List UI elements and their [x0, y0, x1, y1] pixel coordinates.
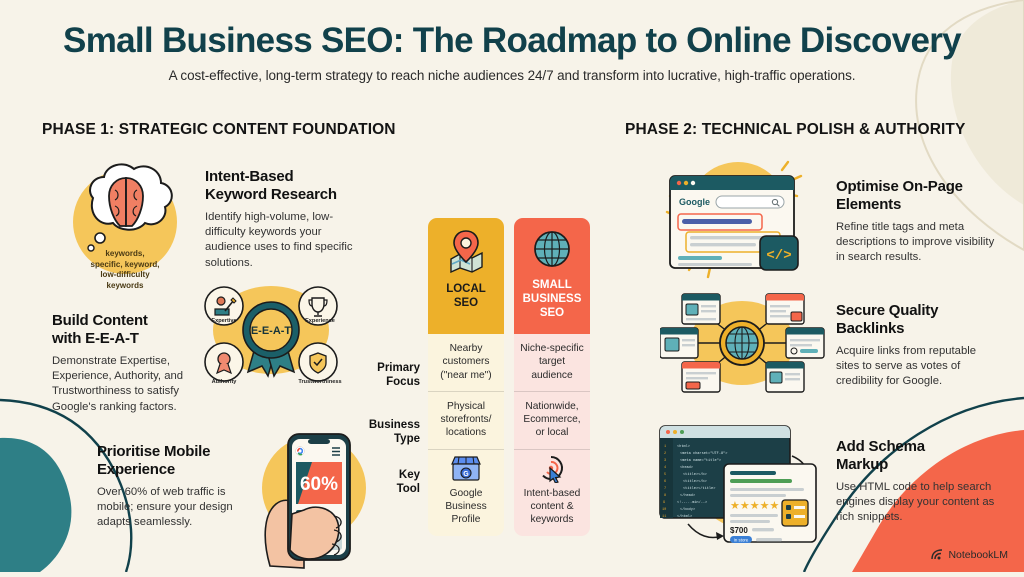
svg-text:</body>: </body> — [680, 507, 695, 512]
block-title-line: Keyword Research — [205, 186, 370, 204]
block-body: Demonstrate Expertise, Experience, Autho… — [52, 354, 204, 415]
block-body: Over 60% of web traffic is mobile; ensur… — [97, 485, 249, 531]
row-label-line: Type — [369, 433, 420, 447]
eeat-label-trustworthiness: Trustworthiness — [290, 379, 350, 385]
map-pin-icon — [443, 229, 489, 273]
column-title-small-business-seo: SMALL BUSINESS SEO — [514, 279, 590, 320]
svg-text:6: 6 — [664, 480, 666, 484]
cell-line: target — [519, 355, 585, 368]
block-title-line: with E-E-A-T — [52, 330, 204, 348]
table-column-local-seo: LOCAL SEO Nearby customers ("near me") P… — [428, 218, 504, 536]
svg-text:5: 5 — [664, 473, 666, 477]
notebooklm-icon — [931, 548, 944, 561]
cell-line: customers — [433, 355, 499, 368]
cell-line: Ecommerce, — [519, 413, 585, 426]
keyword-cloud: keywords, specific, keyword, low-difficu… — [70, 249, 180, 291]
block-add-schema-markup: Add Schema Markup Use HTML code to help … — [836, 438, 996, 526]
cell-line: Nearby — [433, 342, 499, 355]
svg-text:10: 10 — [662, 508, 666, 512]
svg-text:9: 9 — [663, 501, 665, 505]
svg-text:<html>: <html> — [677, 444, 690, 449]
row-label-business-type: Business Type — [369, 419, 420, 447]
cell-line: audience — [519, 369, 585, 382]
hand-phone-icon: 60% — [252, 418, 372, 577]
cell-line: Intent-based — [519, 487, 585, 500]
cell-line: Google — [433, 487, 499, 500]
block-secure-quality-backlinks: Secure Quality Backlinks Acquire links f… — [836, 302, 996, 390]
block-title-line: Backlinks — [836, 320, 996, 338]
globe-icon — [532, 229, 572, 269]
svg-text:</head>: </head> — [680, 493, 695, 498]
svg-text:</html>: </html> — [677, 514, 692, 519]
page-title: Small Business SEO: The Roadmap to Onlin… — [0, 22, 1024, 59]
page-header: Small Business SEO: The Roadmap to Onlin… — [0, 22, 1024, 83]
block-body: Use HTML code to help search engines dis… — [836, 480, 996, 526]
svg-text:8: 8 — [664, 494, 666, 498]
svg-text:<meta name="title">: <meta name="title"> — [680, 458, 721, 463]
code-rich-snippet-icon: 1<html> 2<meta charset="UTF-8"> 3<meta n… — [652, 418, 827, 553]
cell-line: Nationwide, — [519, 400, 585, 413]
table-cell-sbs-key-tool: Intent-based content & keywords — [514, 449, 590, 536]
column-title-line: SEO — [428, 297, 504, 311]
eeat-label-expertive: Expertive — [202, 318, 246, 324]
svg-text:<meta charset="UTF-8">: <meta charset="UTF-8"> — [680, 451, 727, 456]
block-title-line: Markup — [836, 456, 996, 474]
eeat-rosette-icon: E-E-A-T — [196, 278, 346, 393]
phase-1-heading: PHASE 1: STRATEGIC CONTENT FOUNDATION — [42, 121, 396, 139]
row-label-line: Key — [397, 469, 420, 483]
svg-text:<head>: <head> — [680, 465, 693, 470]
cell-line: Niche-specific — [519, 342, 585, 355]
svg-text:G: G — [463, 471, 469, 478]
block-title-line: Elements — [836, 196, 996, 214]
svg-text:7: 7 — [664, 487, 666, 491]
keyword-cloud-line: keywords — [70, 281, 180, 292]
cell-line: content & — [519, 500, 585, 513]
svg-text:11: 11 — [662, 515, 666, 519]
block-title-line: Prioritise Mobile — [97, 443, 249, 461]
block-body: Refine title tags and meta descriptions … — [836, 220, 996, 266]
table-cell-sbs-primary-focus: Niche-specific target audience — [514, 334, 590, 391]
rich-snippet-stars: ★★★★★ — [730, 499, 779, 512]
cell-line: Profile — [433, 513, 499, 526]
column-header-small-business-seo: SMALL BUSINESS SEO — [514, 218, 590, 334]
column-title-line: LOCAL — [428, 283, 504, 297]
target-cursor-icon — [537, 455, 567, 483]
watermark-label: NotebookLM — [948, 549, 1008, 561]
table-cell-local-business-type: Physical storefronts/ locations — [428, 391, 504, 449]
block-optimise-on-page-elements: Optimise On-Page Elements Refine title t… — [836, 178, 996, 266]
svg-text:<title></b>: <title></b> — [683, 472, 707, 477]
block-intent-based-keyword-research: Intent-Based Keyword Research Identify h… — [205, 168, 370, 271]
row-label-primary-focus: Primary Focus — [377, 362, 420, 390]
cell-line: ("near me") — [433, 369, 499, 382]
svg-text:E-E-A-T: E-E-A-T — [251, 325, 292, 337]
eeat-label-authority: Authority — [202, 379, 246, 385]
block-body: Identify high-volume, low-difficulty key… — [205, 210, 370, 271]
svg-text:</>: </> — [766, 248, 791, 264]
block-title-line: Secure Quality — [836, 302, 996, 320]
column-title-local-seo: LOCAL SEO — [428, 283, 504, 311]
svg-text:<!--...min/-->: <!--...min/--> — [677, 500, 707, 505]
column-title-line: SMALL — [514, 279, 590, 293]
block-title-line: Build Content — [52, 312, 204, 330]
row-label-line: Focus — [377, 376, 420, 390]
keyword-cloud-line: keywords, — [70, 249, 180, 260]
block-build-content-eeat: Build Content with E-E-A-T Demonstrate E… — [52, 312, 204, 415]
svg-text:1: 1 — [664, 445, 666, 449]
backlink-network-icon — [660, 288, 825, 403]
table-column-small-business-seo: SMALL BUSINESS SEO Niche-specific target… — [514, 218, 590, 536]
rich-snippet-price: $700 — [730, 526, 748, 535]
watermark: NotebookLM — [931, 548, 1008, 561]
keyword-cloud-line: low-difficulty — [70, 270, 180, 281]
rich-snippet-button: In store — [734, 537, 749, 542]
row-label-line: Tool — [397, 483, 420, 497]
cell-line: Business — [433, 500, 499, 513]
cell-line: keywords — [519, 513, 585, 526]
eeat-label-experience: Experience — [296, 318, 344, 324]
phase-2-heading: PHASE 2: TECHNICAL POLISH & AUTHORITY — [625, 121, 965, 139]
svg-text:2: 2 — [664, 452, 666, 456]
block-title-line: Intent-Based — [205, 168, 370, 186]
column-title-line: SEO — [514, 307, 590, 321]
svg-text:<title></b>: <title></b> — [683, 479, 707, 484]
page-subtitle: A cost-effective, long-term strategy to … — [0, 68, 1024, 83]
svg-text:4: 4 — [664, 466, 666, 470]
row-label-key-tool: Key Tool — [397, 469, 420, 497]
keyword-cloud-line: specific, keyword, — [70, 260, 180, 271]
row-label-line: Business — [369, 419, 420, 433]
browser-brand: Google — [679, 197, 710, 207]
block-title-line: Experience — [97, 461, 249, 479]
row-label-line: Primary — [377, 362, 420, 376]
block-body: Acquire links from reputable sites to se… — [836, 344, 996, 390]
block-title-line: Add Schema — [836, 438, 996, 456]
block-title-line: Optimise On-Page — [836, 178, 996, 196]
table-cell-local-key-tool: G Google Business Profile — [428, 449, 504, 536]
block-prioritise-mobile-experience: Prioritise Mobile Experience Over 60% of… — [97, 443, 249, 531]
google-business-storefront-icon: G — [449, 455, 483, 483]
browser-serp-icon: Google </> — [648, 150, 823, 285]
table-cell-local-primary-focus: Nearby customers ("near me") — [428, 334, 504, 391]
table-cell-sbs-business-type: Nationwide, Ecommerce, or local — [514, 391, 590, 449]
column-title-line: BUSINESS — [514, 293, 590, 307]
cell-line: or local — [519, 426, 585, 439]
svg-text:3: 3 — [664, 459, 666, 463]
column-header-local-seo: LOCAL SEO — [428, 218, 504, 334]
svg-text:60%: 60% — [300, 474, 338, 495]
cell-line: storefronts/ — [433, 413, 499, 426]
svg-text:<title></title>: <title></title> — [683, 486, 715, 491]
cell-line: locations — [433, 426, 499, 439]
cell-line: Physical — [433, 400, 499, 413]
